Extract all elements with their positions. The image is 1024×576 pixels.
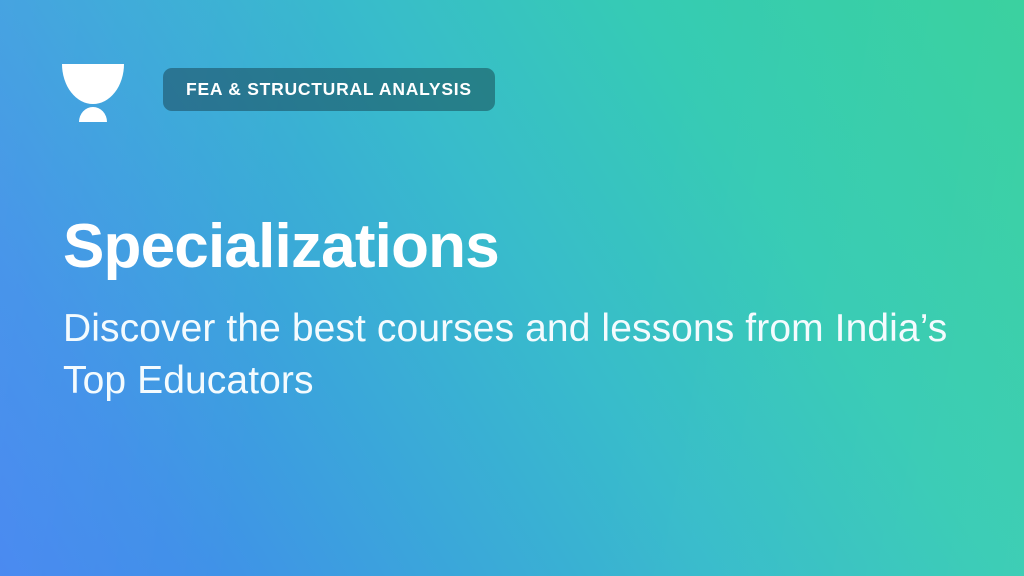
page-title: Specializations: [63, 214, 983, 281]
unacademy-logo-icon[interactable]: [62, 64, 124, 122]
banner-header-row: FEA & STRUCTURAL ANALYSIS: [0, 0, 1024, 160]
promo-banner: FEA & STRUCTURAL ANALYSIS Specialization…: [0, 0, 1024, 576]
logo-bowl-shape: [62, 64, 124, 104]
category-badge-label: FEA & STRUCTURAL ANALYSIS: [186, 81, 472, 99]
logo-base-shape: [79, 107, 107, 122]
page-subtitle: Discover the best courses and lessons fr…: [63, 303, 963, 407]
banner-copy-block: Specializations Discover the best course…: [63, 214, 983, 407]
category-badge[interactable]: FEA & STRUCTURAL ANALYSIS: [163, 68, 495, 111]
